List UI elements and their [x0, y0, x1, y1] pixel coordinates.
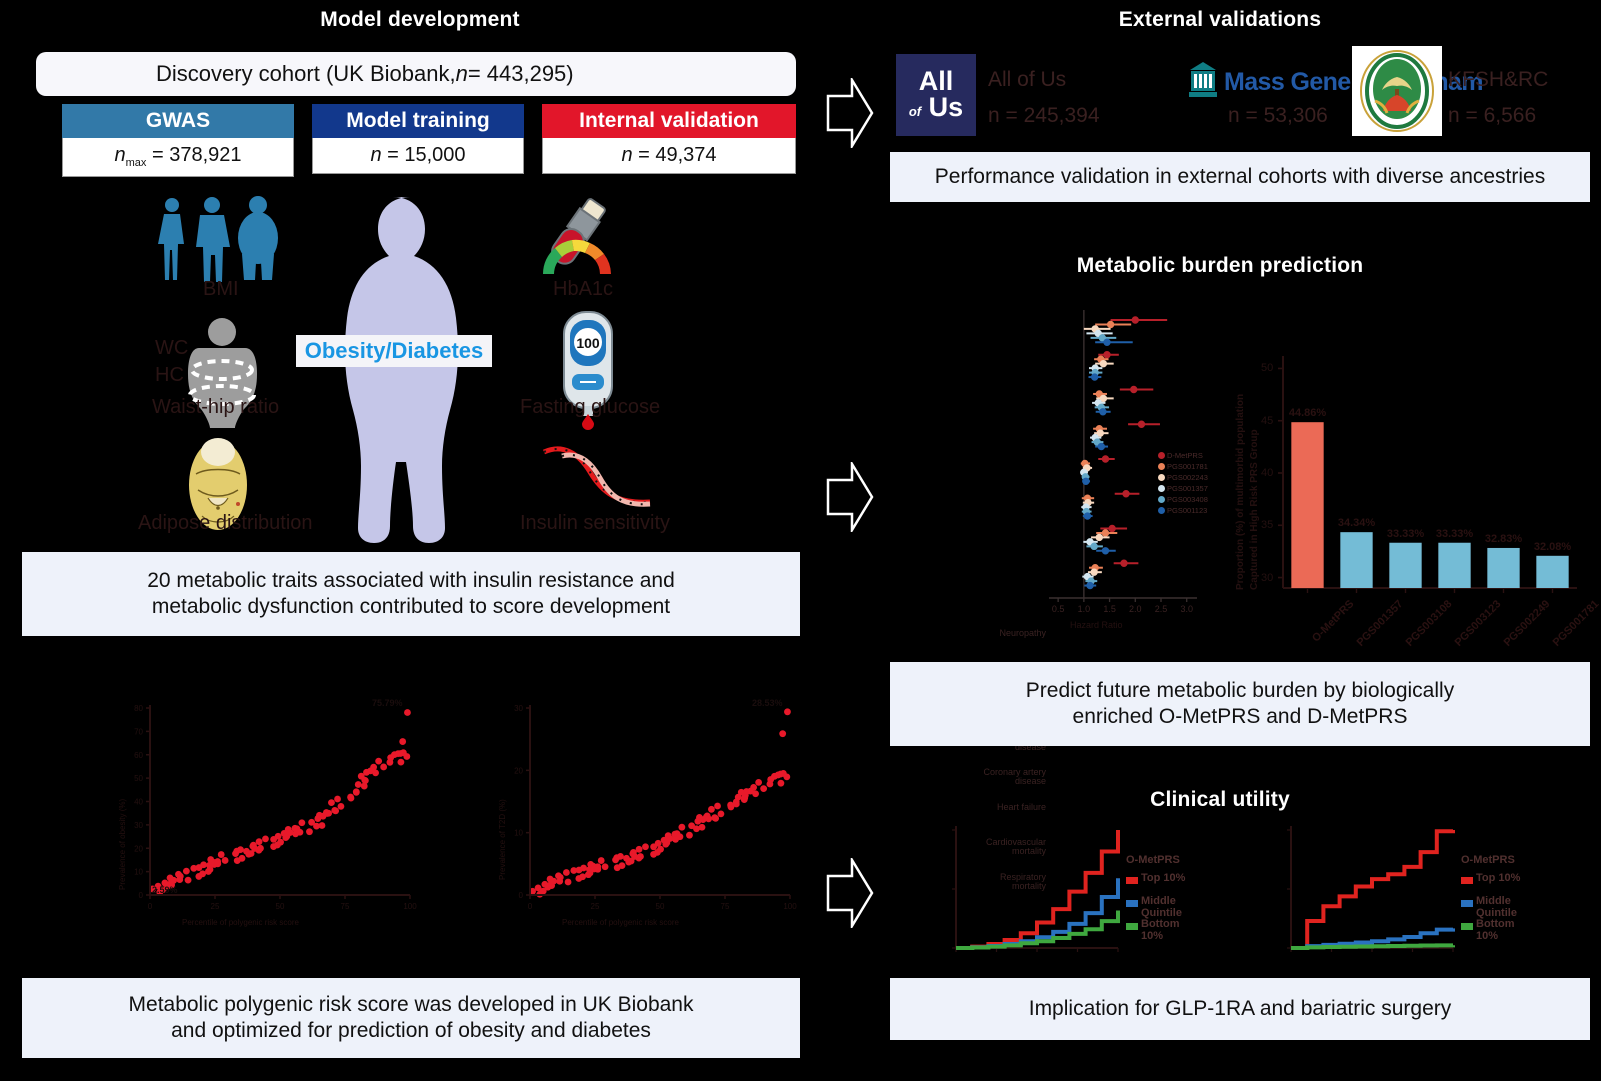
svg-text:50: 50 — [134, 774, 143, 783]
discovery-text-suffix: = 443,295) — [468, 60, 574, 88]
ci-legend-swatch — [1461, 877, 1473, 884]
ci-legend-label: Bottom 10% — [1476, 918, 1535, 942]
forest-plot-hazard-ratio: 0.51.01.52.02.53.0 Hazard Ratio D-MetPRS… — [975, 302, 1205, 632]
section-title-metabolic-burden: Metabolic burden prediction — [1060, 254, 1380, 278]
forest-legend-label: PGS002243 — [1167, 473, 1208, 482]
insulin-sensitivity-icon — [540, 440, 655, 512]
stage-box-internal-validation: Internal validation n = 49,374 — [542, 104, 796, 174]
caption-line-1: Predict future metabolic burden by biolo… — [1026, 678, 1454, 704]
svg-text:30: 30 — [514, 704, 523, 713]
ci-legend-label: Middle Quintile — [1476, 895, 1535, 919]
stage-box-model-training: Model training n = 15,000 — [312, 104, 524, 174]
caption-line-2: enriched O-MetPRS and D-MetPRS — [1073, 704, 1408, 730]
caption-line-2: and optimized for prediction of obesity … — [171, 1018, 651, 1044]
bar-ytick: 45 — [1261, 415, 1273, 427]
n-subscript: max — [126, 157, 147, 169]
svg-text:0.5: 0.5 — [1052, 604, 1065, 614]
svg-text:10: 10 — [514, 829, 523, 838]
ci-legend-swatch — [1126, 877, 1138, 884]
forest-outcome-label: Neuropathy — [970, 629, 1046, 638]
scatter-plot-t2d: 02550751000102030 Prevalence of T2D (%) … — [490, 700, 810, 950]
trait-label-wc-hc: WC HC — [155, 335, 188, 389]
svg-text:40: 40 — [134, 798, 143, 807]
forest-xlabel: Hazard Ratio — [1070, 620, 1123, 630]
discovery-cohort-bar: Discovery cohort (UK Biobank, n = 443,29… — [36, 52, 796, 96]
svg-text:1.5: 1.5 — [1103, 604, 1116, 614]
n-symbol: n — [370, 144, 381, 166]
caption-clinical-utility: Implication for GLP-1RA and bariatric su… — [890, 978, 1590, 1040]
obese-body-silhouette — [300, 195, 520, 545]
svg-text:0: 0 — [519, 891, 524, 900]
stage-header-gwas: GWAS — [62, 104, 294, 138]
svg-text:75: 75 — [341, 902, 350, 911]
caption-line-2: metabolic dysfunction contributed to sco… — [152, 594, 670, 620]
caption-metabolic-burden: Predict future metabolic burden by biolo… — [890, 662, 1590, 746]
scatter-t2d-ylabel: Prevalence of T2D (%) — [498, 799, 507, 880]
bar-ytick: 40 — [1261, 467, 1273, 479]
forest-legend-swatch — [1158, 485, 1165, 492]
glucometer-reading: 100 — [576, 335, 600, 351]
caption-line-1: Metabolic polygenic risk score was devel… — [129, 992, 694, 1018]
stage-header-internal-validation: Internal validation — [542, 104, 796, 138]
svg-text:10: 10 — [134, 868, 143, 877]
bar-ylabel-line2: Captured in High Risk PRS Group — [1249, 429, 1260, 590]
scatter-obesity-ylabel: Prevalence of obesity (%) — [118, 799, 127, 890]
svg-text:80: 80 — [134, 704, 143, 713]
forest-legend-swatch — [1158, 496, 1165, 503]
svg-text:20: 20 — [134, 844, 143, 853]
section-title-model-development: Model development — [220, 8, 620, 32]
svg-text:2.0: 2.0 — [1129, 604, 1142, 614]
svg-text:3.0: 3.0 — [1180, 604, 1193, 614]
discovery-text-prefix: Discovery cohort (UK Biobank, — [156, 60, 456, 88]
stage-value-internal-validation: n = 49,374 — [542, 138, 796, 174]
svg-text:1.0: 1.0 — [1078, 604, 1091, 614]
label-hc: HC — [155, 362, 188, 389]
forest-legend-label: PGS001123 — [1167, 506, 1207, 515]
bar-chart-multimorbid-capture: Proportion (%) of multimorbid population… — [1225, 340, 1595, 640]
forest-legend-swatch — [1158, 474, 1165, 481]
bar-ylabel-line1: Proportion (%) of multimorbid population — [1235, 394, 1246, 590]
svg-text:60: 60 — [134, 751, 143, 760]
bar-ytick: 35 — [1261, 519, 1273, 531]
ci-legend-label: Top 10% — [1476, 872, 1520, 884]
trait-label-adipose-distribution: Adipose distribution — [138, 512, 313, 535]
trait-label-fasting-glucose: Fasting glucose — [520, 396, 660, 419]
arrow-to-external-validations — [826, 78, 874, 148]
svg-text:100: 100 — [783, 902, 797, 911]
caption-external-validation: Performance validation in external cohor… — [890, 152, 1590, 202]
all-of-us-logo: All of Us — [896, 54, 976, 136]
bar-data-label: 44.86% — [1282, 407, 1334, 419]
bar-data-label: 33.33% — [1380, 528, 1432, 540]
caption-prs-development: Metabolic polygenic risk score was devel… — [22, 978, 800, 1058]
svg-text:0: 0 — [139, 891, 144, 900]
ci-legend-swatch — [1461, 900, 1473, 907]
discovery-n-italic: n — [456, 60, 468, 88]
cumulative-incidence-plot-bariatric: O-MetPRSTop 10%Middle QuintileBottom 10% — [1265, 820, 1535, 960]
trait-label-waist-hip-ratio: Waist-hip ratio — [152, 396, 279, 419]
hba1c-icon — [535, 196, 645, 286]
scatter-obesity-xlabel: Percentile of polygenic risk score — [182, 918, 299, 927]
ci-legend-title: O-MetPRS — [1461, 854, 1515, 866]
forest-legend-swatch — [1158, 463, 1165, 470]
mass-general-brigham-logo — [1186, 60, 1220, 102]
svg-text:25: 25 — [211, 902, 220, 911]
ci-legend-label: Bottom 10% — [1141, 918, 1200, 942]
forest-outcome-label: Coronary artery disease — [970, 768, 1046, 786]
bar-data-label: 32.83% — [1478, 533, 1530, 545]
caption-line-1: 20 metabolic traits associated with insu… — [147, 568, 675, 594]
external-cohort-name-kfshrc: KFSH&RC — [1448, 68, 1548, 92]
n-value: = 15,000 — [382, 144, 466, 166]
ci-legend-label: Middle Quintile — [1141, 895, 1200, 919]
caption-metabolic-traits: 20 metabolic traits associated with insu… — [22, 552, 800, 636]
forest-legend-label: PGS001781 — [1167, 462, 1208, 471]
kfshrc-logo — [1352, 46, 1442, 136]
forest-legend-label: PGS003408 — [1167, 495, 1208, 504]
external-cohort-n-mgb: n = 53,306 — [1228, 104, 1328, 128]
section-title-clinical-utility: Clinical utility — [1100, 788, 1340, 812]
svg-text:0: 0 — [148, 902, 153, 911]
external-cohort-name-all-of-us: All of Us — [988, 68, 1066, 92]
obesity-diabetes-label: Obesity/Diabetes — [296, 335, 492, 367]
forest-legend-swatch — [1158, 507, 1165, 514]
bar-ytick: 30 — [1261, 572, 1273, 584]
bar-data-label: 33.33% — [1429, 528, 1481, 540]
forest-legend-label: D-MetPRS — [1167, 451, 1203, 460]
external-cohort-n-kfshrc: n = 6,566 — [1448, 104, 1536, 128]
n-symbol: n — [115, 144, 126, 166]
stage-header-model-training: Model training — [312, 104, 524, 138]
stage-value-model-training: n = 15,000 — [312, 138, 524, 174]
svg-text:100: 100 — [403, 902, 417, 911]
section-title-external-validations: External validations — [1060, 8, 1380, 32]
svg-text:20: 20 — [514, 766, 523, 775]
svg-text:50: 50 — [656, 902, 665, 911]
label-wc: WC — [155, 335, 188, 362]
n-symbol: n — [621, 144, 632, 166]
cumulative-incidence-plot-glp1ra: O-MetPRSTop 10%Middle QuintileBottom 10% — [930, 820, 1200, 960]
bar-data-label: 32.08% — [1527, 541, 1579, 553]
scatter-obesity-annot-high: 75.79% — [372, 698, 403, 708]
trait-label-hba1c: HbA1c — [553, 278, 613, 301]
stage-value-gwas: nmax = 378,921 — [62, 138, 294, 177]
ci-legend-swatch — [1461, 923, 1473, 930]
svg-text:75: 75 — [721, 902, 730, 911]
external-cohort-n-all-of-us: n = 245,394 — [988, 104, 1100, 128]
trait-label-bmi: BMI — [203, 278, 239, 301]
forest-legend-label: PGS001357 — [1167, 484, 1208, 493]
bar-data-label: 34.34% — [1331, 517, 1383, 529]
svg-text:50: 50 — [276, 902, 285, 911]
svg-text:25: 25 — [591, 902, 600, 911]
svg-text:2.5: 2.5 — [1155, 604, 1168, 614]
graphical-abstract: Model development Discovery cohort (UK B… — [0, 0, 1601, 1081]
n-value: = 378,921 — [146, 144, 241, 166]
scatter-obesity-annot-low: 2.59% — [152, 885, 178, 895]
svg-text:0: 0 — [528, 902, 533, 911]
ci-legend-swatch — [1126, 923, 1138, 930]
stage-box-gwas: GWAS nmax = 378,921 — [62, 104, 294, 177]
svg-text:70: 70 — [134, 727, 143, 736]
bar-ytick: 50 — [1261, 362, 1273, 374]
ci-legend-swatch — [1126, 900, 1138, 907]
arrow-to-clinical-utility — [826, 858, 874, 928]
scatter-plot-obesity: 025507510001020304050607080 Prevalence o… — [110, 700, 430, 950]
scatter-t2d-annot-high: 28.53% — [752, 698, 783, 708]
ci-legend-title: O-MetPRS — [1126, 854, 1180, 866]
arrow-to-metabolic-burden — [826, 462, 874, 532]
trait-label-insulin-sensitivity: Insulin sensitivity — [520, 512, 670, 535]
svg-text:30: 30 — [134, 821, 143, 830]
ci-legend-label: Top 10% — [1141, 872, 1185, 884]
scatter-t2d-xlabel: Percentile of polygenic risk score — [562, 918, 679, 927]
n-value: = 49,374 — [633, 144, 717, 166]
bmi-icon — [150, 196, 290, 286]
forest-outcome-label: Heart failure — [970, 803, 1046, 812]
forest-legend-swatch — [1158, 452, 1165, 459]
